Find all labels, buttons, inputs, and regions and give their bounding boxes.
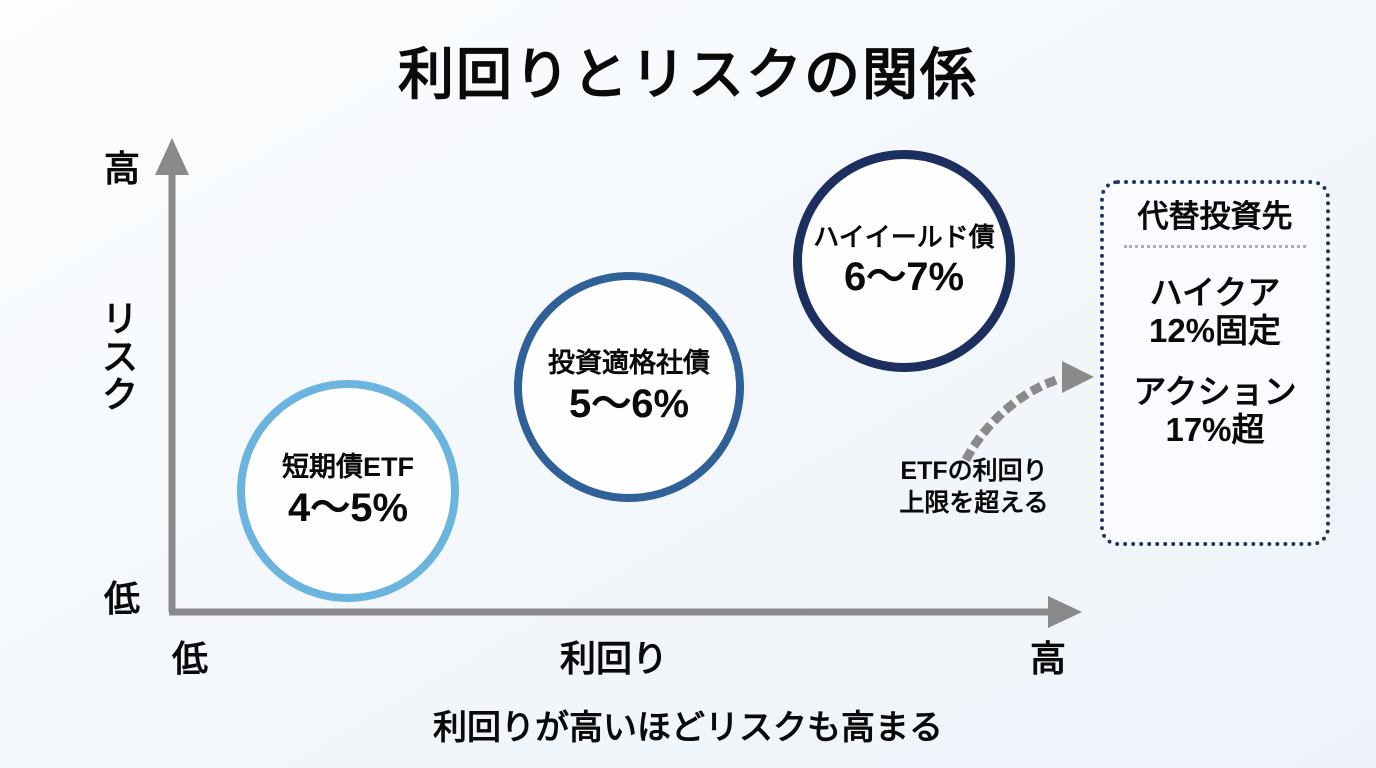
- page-title: 利回りとリスクの関係: [0, 30, 1376, 111]
- y-axis-low-label: 低: [104, 570, 140, 622]
- x-axis-high-label: 高: [1030, 630, 1066, 682]
- y-axis-title: リスク: [98, 300, 142, 413]
- panel-title: 代替投資先: [1138, 198, 1293, 235]
- arrow-annotation-line2: 上限を超える: [874, 487, 1074, 519]
- y-axis-arrowhead: [155, 138, 189, 175]
- alt-item-rate: 17%超: [1104, 411, 1326, 449]
- y-axis-high-label: 高: [104, 140, 140, 192]
- bubble-label: 短期債ETF: [282, 452, 414, 483]
- bubble-rate: 4〜5%: [288, 486, 408, 530]
- panel-divider: [1124, 245, 1306, 248]
- alternative-investments-panel[interactable]: 代替投資先 ハイクア 12%固定 アクション 17%超: [1100, 180, 1330, 546]
- dotted-arrow-head: [1062, 361, 1094, 393]
- bubble-label: ハイイールド債: [813, 223, 994, 253]
- bubble-rate: 6〜7%: [844, 255, 964, 299]
- x-axis-arrowhead: [1048, 596, 1082, 628]
- alt-item-action[interactable]: アクション 17%超: [1104, 373, 1326, 450]
- bubble-investment-grade[interactable]: 投資適格社債 5〜6%: [514, 272, 744, 502]
- alt-item-rate: 12%固定: [1104, 312, 1326, 350]
- x-axis-title: 利回り: [560, 630, 668, 682]
- arrow-annotation-line1: ETFの利回り: [874, 455, 1074, 487]
- diagram-canvas: 利回りとリスクの関係 高 リスク 低 低 利回り 高 短期債ETF 4〜5% 投…: [0, 0, 1376, 768]
- bubble-rate: 5〜6%: [569, 382, 689, 426]
- alt-item-name: アクション: [1104, 373, 1326, 411]
- bottom-caption: 利回りが高いほどリスクも高まる: [0, 700, 1376, 749]
- bubble-label: 投資適格社債: [548, 348, 710, 379]
- arrow-annotation: ETFの利回り 上限を超える: [874, 455, 1074, 519]
- dotted-curve-arrow: [968, 378, 1063, 456]
- bubble-short-term-etf[interactable]: 短期債ETF 4〜5%: [237, 380, 459, 602]
- x-axis-low-label: 低: [172, 630, 208, 682]
- bubble-high-yield[interactable]: ハイイールド債 6〜7%: [793, 150, 1015, 372]
- alt-item-name: ハイクア: [1104, 274, 1326, 312]
- alt-item-hikua[interactable]: ハイクア 12%固定: [1104, 274, 1326, 351]
